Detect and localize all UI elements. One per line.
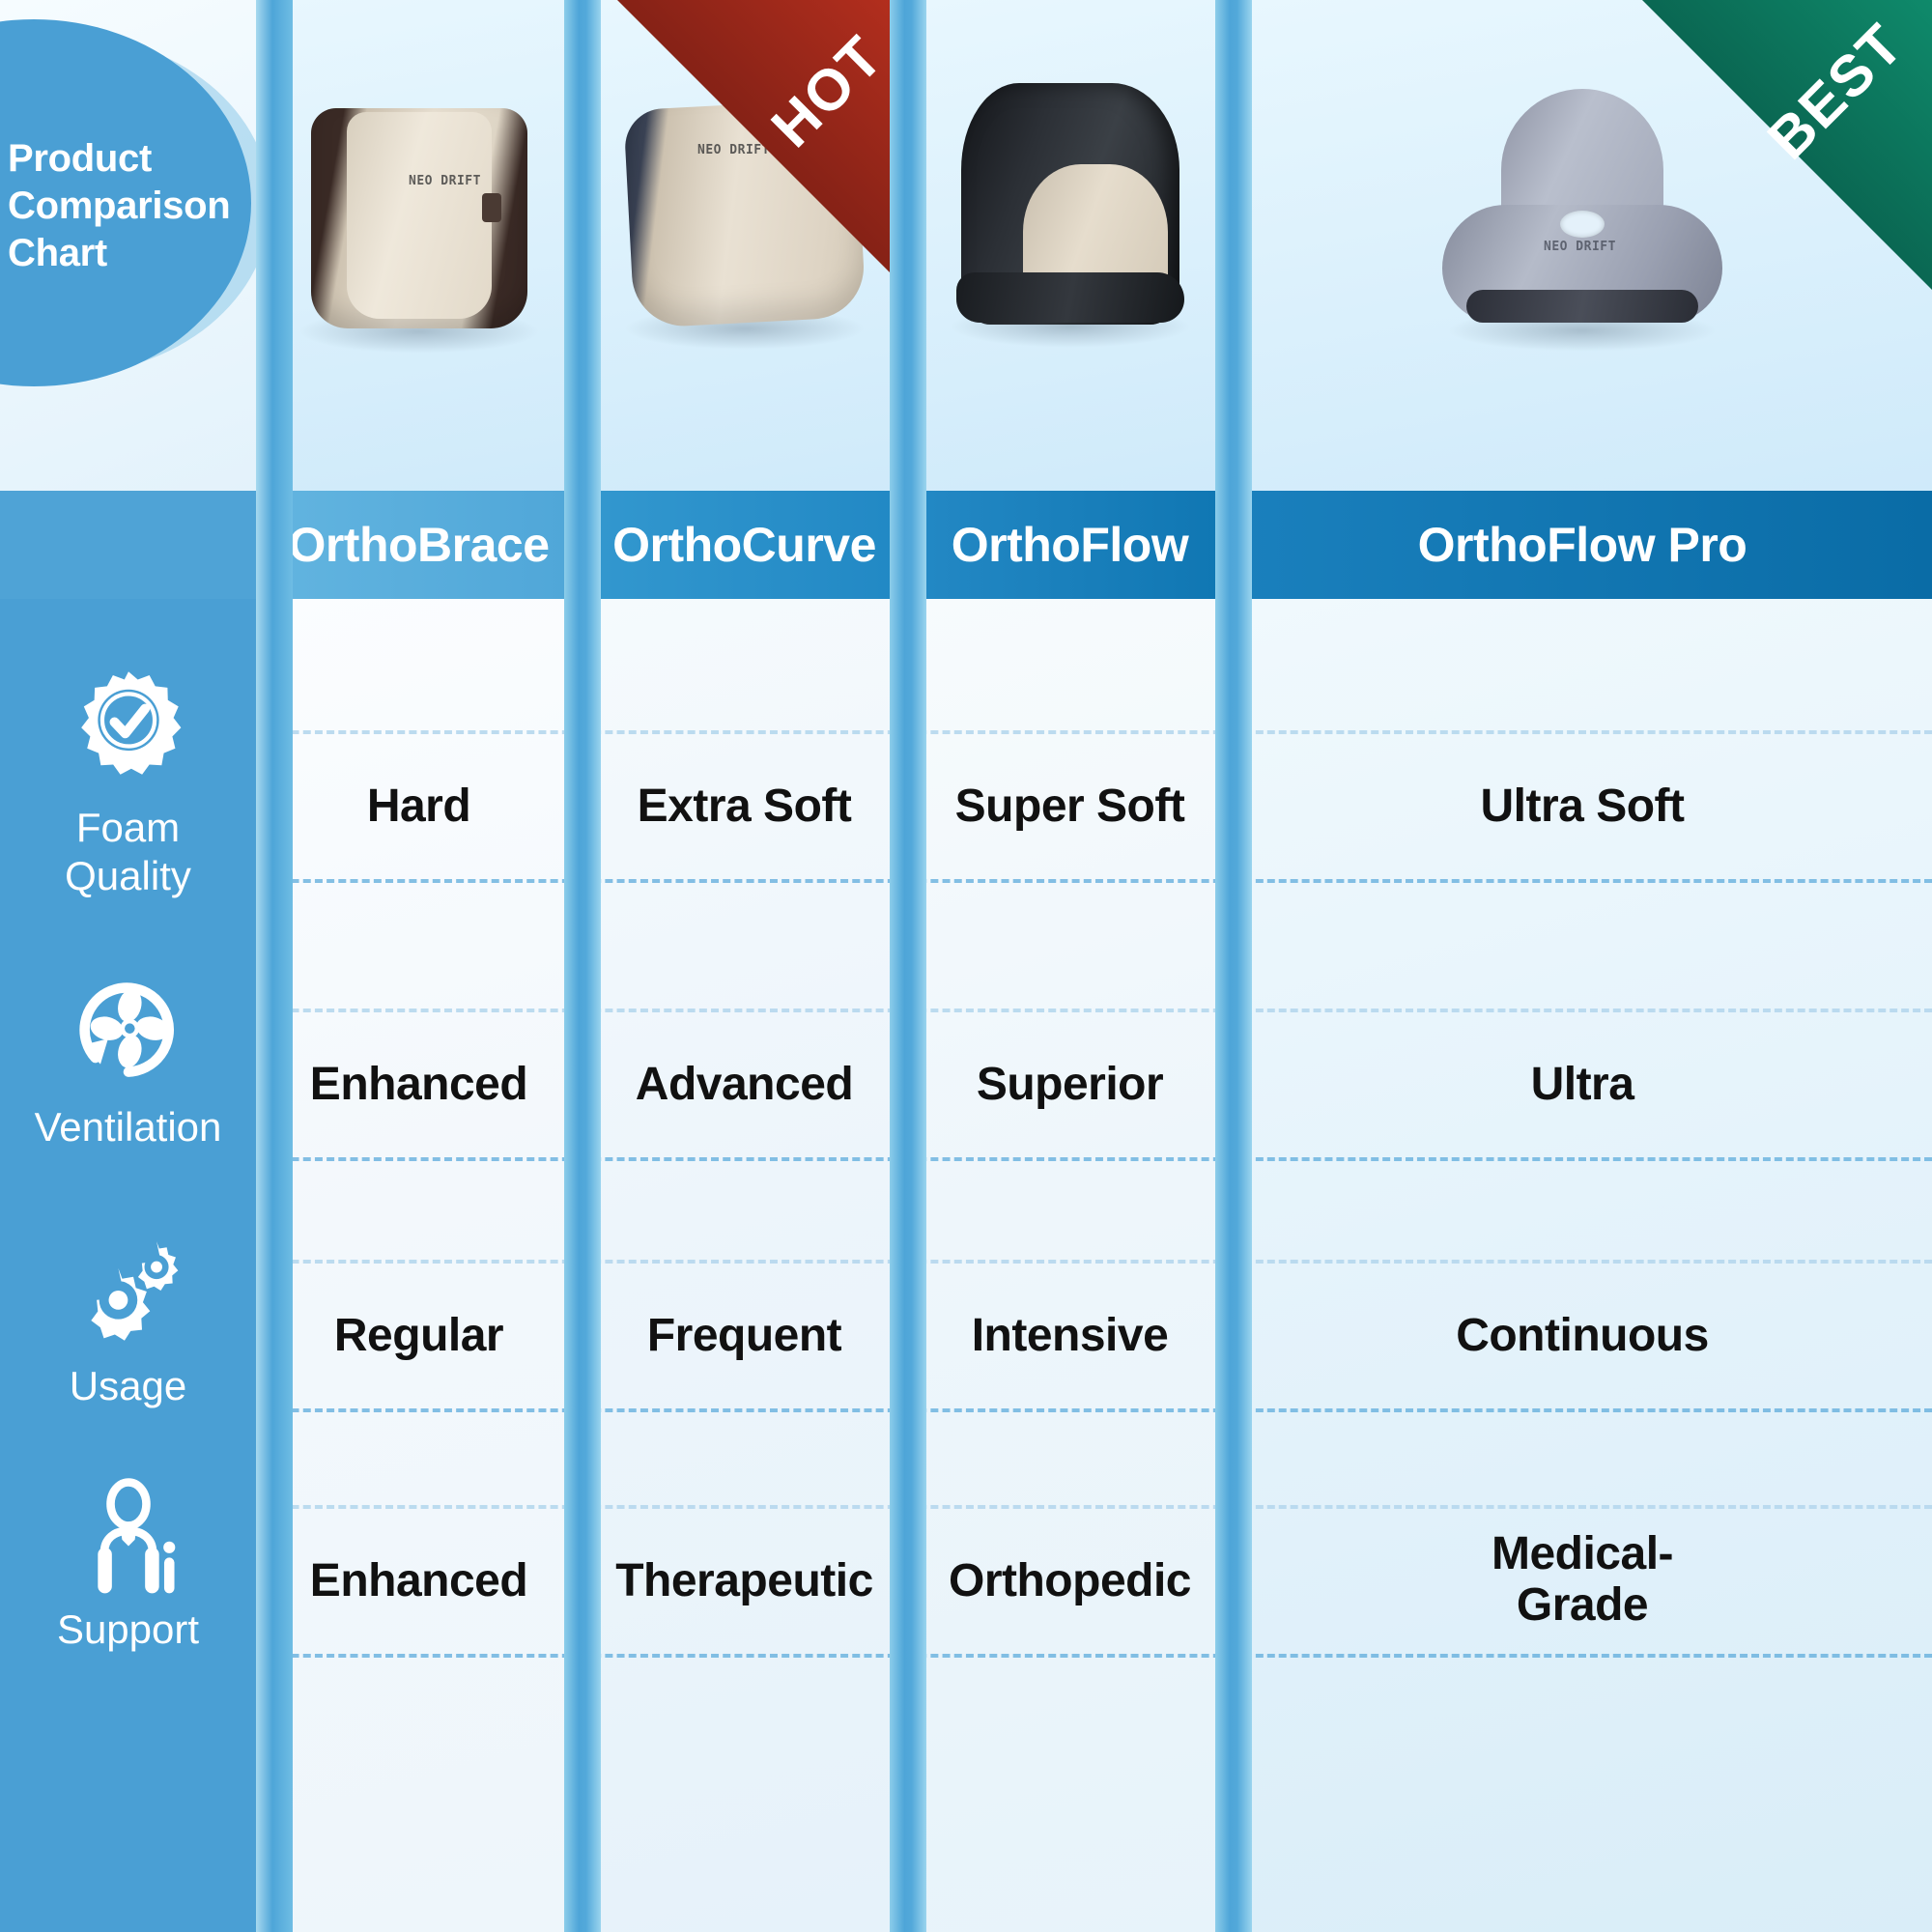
product-name: OrthoBrace	[288, 517, 549, 573]
value-text: Ultra Soft	[1481, 781, 1685, 833]
value-text: Super Soft	[955, 781, 1185, 833]
product-column-orthoflow-pro: NEO DRIFT OrthoFlow Pro Ultra Soft Ultra…	[1233, 0, 1932, 1932]
product-photo-orthocurve: NEO DRIFT	[582, 0, 907, 491]
value-cell: Extra Soft	[582, 763, 907, 850]
cushion-base-strip	[1466, 290, 1698, 323]
cushion-strap-tab	[482, 193, 501, 222]
brand-logo: NEO DRIFT	[697, 143, 770, 157]
value-text: Superior	[977, 1060, 1163, 1111]
feature-label-line1: Foam	[13, 804, 244, 852]
feature-label: Ventilation	[13, 1103, 244, 1151]
value-cell: Regular	[256, 1293, 582, 1379]
sidebar-title-area: Product Comparison Chart	[0, 0, 256, 491]
value-cell: Frequent	[582, 1293, 907, 1379]
value-cell: Hard	[256, 763, 582, 850]
value-text: Orthopedic	[949, 1556, 1191, 1607]
value-text-line2: Grade	[1517, 1579, 1648, 1631]
product-column-orthoflow: OrthoFlow Super Soft Superior Intensive …	[907, 0, 1233, 1932]
value-text: Regular	[334, 1311, 503, 1362]
product-values-orthoflow: Super Soft Superior Intensive Orthopedic	[907, 599, 1233, 1932]
feature-row-support: Support	[0, 1468, 256, 1654]
sidebar-name-row-spacer	[0, 491, 256, 599]
value-text: Ultra	[1531, 1060, 1634, 1111]
cushion-center-cutout	[1560, 211, 1605, 238]
value-cell: Therapeutic	[582, 1538, 907, 1625]
fan-airflow-icon	[65, 966, 192, 1094]
brand-logo: NEO DRIFT	[1544, 240, 1616, 254]
value-cell: Ultra Soft	[1233, 763, 1932, 850]
cushion-base-wing	[956, 272, 1184, 323]
feature-label: Support	[13, 1605, 244, 1654]
value-cell: Advanced	[582, 1041, 907, 1128]
page-title-line3: Chart	[8, 230, 249, 277]
feature-row-foam-quality: Foam Quality	[0, 667, 256, 899]
value-cell: Medical- Grade	[1233, 1515, 1932, 1646]
value-cell: Super Soft	[907, 763, 1233, 850]
product-photo-orthoflow-pro: NEO DRIFT	[1233, 0, 1932, 491]
product-name-bar-orthoflow: OrthoFlow	[907, 491, 1233, 599]
column-separator	[890, 0, 926, 1932]
value-text: Intensive	[972, 1311, 1169, 1362]
feature-row-ventilation: Ventilation	[0, 966, 256, 1151]
page-title: Product Comparison Chart	[8, 135, 249, 276]
value-text: Therapeutic	[615, 1556, 873, 1607]
product-values-orthobrace: Hard Enhanced Regular Enhanced	[256, 599, 582, 1932]
product-column-orthobrace: NEO DRIFT OrthoBrace Hard Enhanced Regul…	[256, 0, 582, 1932]
value-cell: Enhanced	[256, 1041, 582, 1128]
sidebar: Product Comparison Chart Foam Quality	[0, 0, 256, 1932]
product-name: OrthoFlow Pro	[1418, 517, 1747, 573]
feature-label: Foam Quality	[13, 804, 244, 899]
page-title-line1: Product	[8, 135, 249, 183]
value-text: Hard	[367, 781, 470, 833]
quality-badge-check-icon	[65, 667, 192, 794]
feature-label: Usage	[13, 1362, 244, 1410]
product-values-orthocurve: Extra Soft Advanced Frequent Therapeutic	[582, 599, 907, 1932]
value-text-line1: Medical-	[1492, 1528, 1673, 1579]
value-text: Extra Soft	[638, 781, 852, 833]
value-cell: Continuous	[1233, 1293, 1932, 1379]
product-column-orthocurve: NEO DRIFT OrthoCurve Extra Soft Advanced…	[582, 0, 907, 1932]
value-cell: Ultra	[1233, 1041, 1932, 1128]
column-separator	[256, 0, 293, 1932]
product-name: OrthoFlow	[952, 517, 1188, 573]
value-cell: Intensive	[907, 1293, 1233, 1379]
product-values-orthoflow-pro: Ultra Soft Ultra Continuous Medical- Gra…	[1233, 599, 1932, 1932]
value-text: Frequent	[647, 1311, 841, 1362]
value-text: Enhanced	[310, 1060, 527, 1111]
product-photo-orthobrace: NEO DRIFT	[256, 0, 582, 491]
product-name-bar-orthobrace: OrthoBrace	[256, 491, 582, 599]
page-title-line2: Comparison	[8, 183, 249, 230]
feature-row-usage: Usage	[0, 1225, 256, 1410]
person-posture-support-icon	[65, 1468, 192, 1596]
product-name: OrthoCurve	[612, 517, 876, 573]
value-text: Enhanced	[310, 1556, 527, 1607]
brand-logo: NEO DRIFT	[409, 174, 481, 188]
value-text: Medical- Grade	[1492, 1529, 1673, 1632]
cushion-body	[623, 99, 866, 328]
value-cell: Enhanced	[256, 1538, 582, 1625]
product-name-bar-orthoflow-pro: OrthoFlow Pro	[1233, 491, 1932, 599]
product-comparison-chart: NEO DRIFT OrthoBrace Hard Enhanced Regul…	[0, 0, 1932, 1932]
product-photo-orthoflow	[907, 0, 1233, 491]
column-separator	[564, 0, 601, 1932]
value-text: Advanced	[636, 1060, 853, 1111]
column-separator	[1215, 0, 1252, 1932]
cushion-front-panel	[347, 112, 492, 319]
product-name-bar-orthocurve: OrthoCurve	[582, 491, 907, 599]
feature-label-line2: Quality	[13, 852, 244, 900]
value-cell: Orthopedic	[907, 1538, 1233, 1625]
gears-icon	[65, 1225, 192, 1352]
value-text: Continuous	[1456, 1311, 1709, 1362]
value-cell: Superior	[907, 1041, 1233, 1128]
